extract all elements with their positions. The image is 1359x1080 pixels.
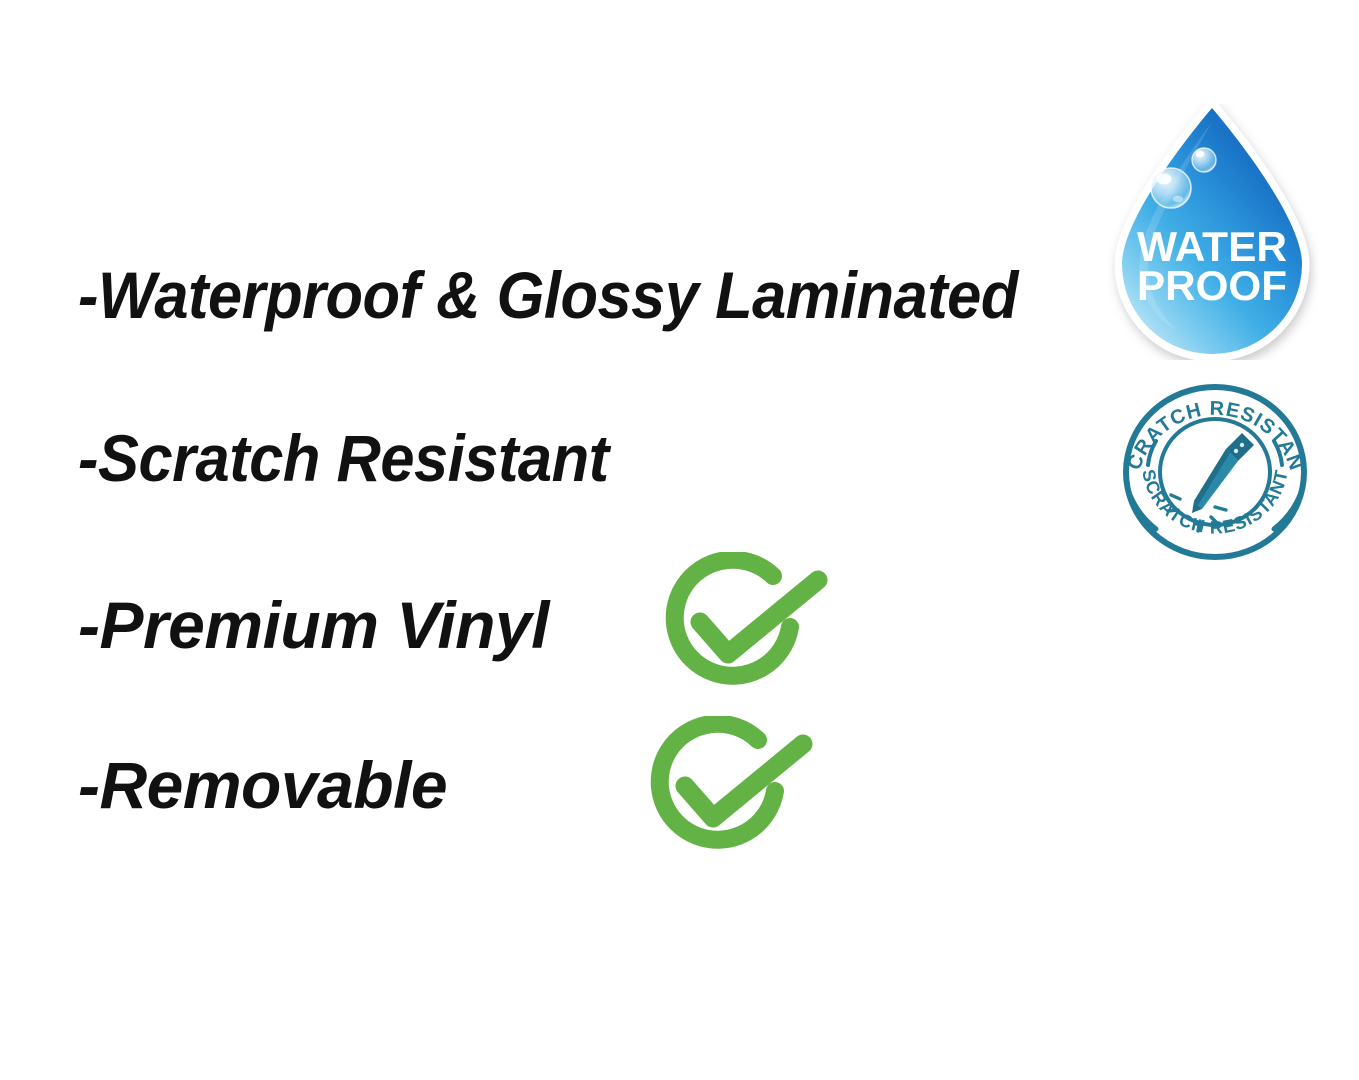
poster-canvas: -Waterproof & Glossy Laminated -Scratch … bbox=[0, 0, 1359, 1080]
feature-line-scratch-resistant: -Scratch Resistant bbox=[78, 425, 609, 491]
knife-glyph bbox=[1192, 433, 1254, 513]
check-circle-icon bbox=[643, 552, 843, 702]
check-tick bbox=[700, 580, 818, 654]
feature-line-premium-vinyl: -Premium Vinyl bbox=[78, 592, 549, 658]
water-drop-icon: WATER PROOF bbox=[1106, 104, 1318, 360]
feature-line-waterproof-glossy-laminated: -Waterproof & Glossy Laminated bbox=[78, 262, 1018, 328]
check-tick bbox=[685, 744, 803, 818]
feature-line-removable: -Removable bbox=[78, 752, 447, 818]
knife-stamp-icon: SCRATCH RESISTANT SCRATCH RESISTANT bbox=[1116, 383, 1314, 561]
bubble-small bbox=[1192, 148, 1216, 172]
stamp-text-top: SCRATCH RESISTANT bbox=[1116, 383, 1307, 474]
check-circle-icon bbox=[628, 716, 828, 866]
drop-label-line2: PROOF bbox=[1137, 262, 1287, 309]
bubble-large bbox=[1151, 168, 1191, 208]
